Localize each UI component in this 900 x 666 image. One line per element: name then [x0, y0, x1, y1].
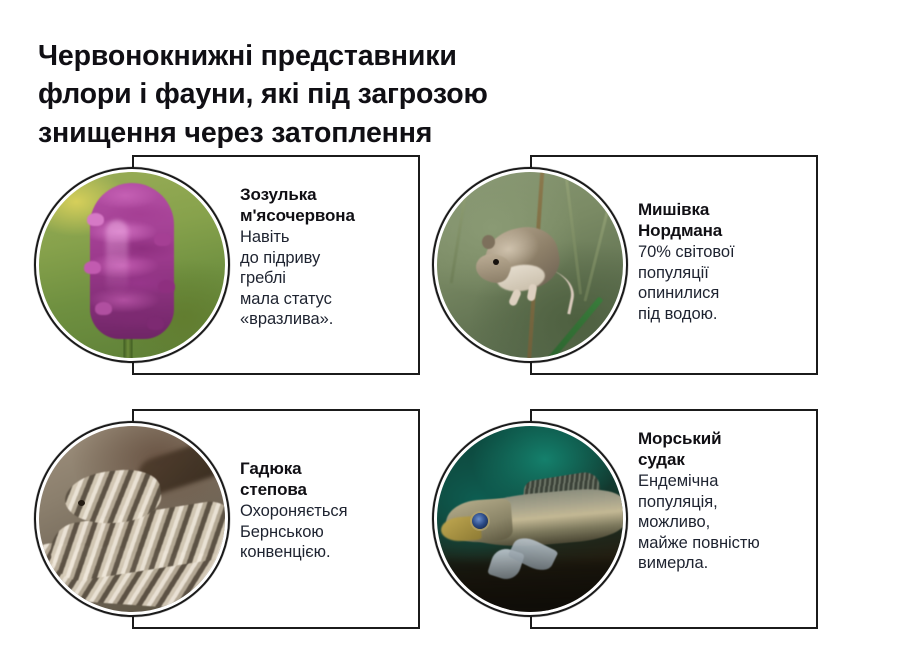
orchid-highlight-icon — [106, 220, 128, 294]
steppe-viper-photo — [39, 426, 225, 612]
orchid-floret-icon — [154, 233, 171, 246]
card-text-block: Гадюка степова Охороняється Бернською ко… — [240, 459, 416, 563]
water-shadow-icon — [437, 560, 623, 612]
orchid-photo-frame — [34, 167, 230, 363]
species-name: Морський судак — [638, 429, 814, 470]
card-text-block: Мишівка Нордмана 70% світової популяції … — [638, 200, 814, 324]
orchid-floret-icon — [147, 317, 164, 330]
species-name: Зозулька м'ясочервона — [240, 185, 416, 226]
orchid-photo — [39, 172, 225, 358]
orchid-floret-icon — [95, 302, 112, 315]
pikeperch-photo-frame — [432, 421, 628, 617]
orchid-flower-spike-icon — [90, 183, 174, 339]
species-description: 70% світової популяції опинилися під вод… — [638, 242, 814, 324]
species-card-orchid: Зозулька м'ясочервона Навіть до підриву … — [132, 155, 420, 375]
orchid-floret-icon — [158, 280, 175, 293]
species-card-grid: Зозулька м'ясочервона Навіть до підриву … — [0, 0, 900, 666]
grass-blade-icon — [450, 172, 472, 283]
birch-mouse-photo-frame — [432, 167, 628, 363]
species-card-pikeperch: Морський судак Ендемічна популяція, можл… — [530, 409, 818, 629]
grass-blade-icon — [437, 284, 479, 354]
species-name: Мишівка Нордмана — [638, 200, 814, 241]
orchid-floret-icon — [84, 261, 101, 274]
grass-blade-icon — [583, 192, 613, 301]
species-card-steppe-viper: Гадюка степова Охороняється Бернською ко… — [132, 409, 420, 629]
orchid-floret-icon — [87, 213, 104, 226]
species-card-birch-mouse: Мишівка Нордмана 70% світової популяції … — [530, 155, 818, 375]
species-description: Ендемічна популяція, можливо, майже повн… — [638, 471, 814, 574]
pikeperch-photo — [437, 426, 623, 612]
species-description: Охороняється Бернською конвенцією. — [240, 501, 416, 563]
birch-mouse-photo — [437, 172, 623, 358]
mouse-ear-icon — [482, 235, 495, 249]
grass-blade-icon — [563, 172, 582, 294]
species-name: Гадюка степова — [240, 459, 416, 500]
steppe-viper-photo-frame — [34, 421, 230, 617]
card-text-block: Морський судак Ендемічна популяція, можл… — [638, 429, 814, 574]
card-text-block: Зозулька м'ясочервона Навіть до підриву … — [240, 185, 416, 330]
species-description: Навіть до підриву греблі мала статус «вр… — [240, 227, 416, 330]
